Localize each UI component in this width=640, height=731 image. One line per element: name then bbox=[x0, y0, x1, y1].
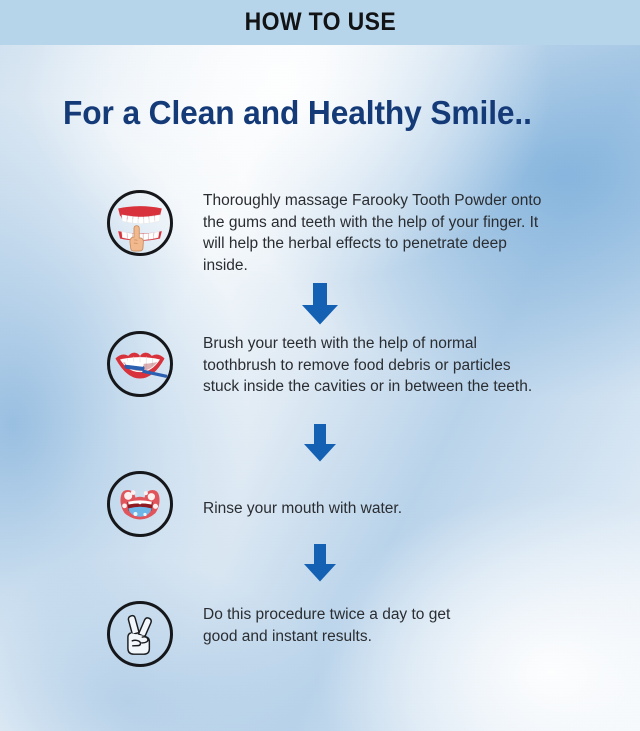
how-to-use-infographic: HOW TO USE For a Clean and Healthy Smile… bbox=[0, 0, 640, 731]
arrow-down-icon bbox=[303, 424, 337, 462]
hand-victory-two-fingers-icon bbox=[107, 601, 173, 667]
step-text-3: Rinse your mouth with water. bbox=[203, 498, 402, 520]
page-title: For a Clean and Healthy Smile.. bbox=[63, 96, 532, 131]
step-text-2: Brush your teeth with the help of normal… bbox=[203, 333, 548, 398]
step-item-1: Thoroughly massage Farooky Tooth Powder … bbox=[107, 190, 548, 277]
arrow-down-icon bbox=[301, 283, 339, 325]
mouth-rinse-water-icon bbox=[107, 471, 173, 537]
step-item-2: Brush your teeth with the help of normal… bbox=[107, 331, 548, 398]
arrow-down-icon bbox=[303, 544, 337, 582]
step-text-1: Thoroughly massage Farooky Tooth Powder … bbox=[203, 190, 548, 277]
step-item-4: Do this procedure twice a day to get goo… bbox=[107, 601, 463, 667]
mouth-toothbrush-icon bbox=[107, 331, 173, 397]
header-title: HOW TO USE bbox=[244, 8, 395, 37]
header-bar: HOW TO USE bbox=[0, 0, 640, 45]
mouth-finger-massage-icon bbox=[107, 190, 173, 256]
step-text-4: Do this procedure twice a day to get goo… bbox=[203, 604, 463, 647]
step-item-3: Rinse your mouth with water. bbox=[107, 471, 402, 537]
